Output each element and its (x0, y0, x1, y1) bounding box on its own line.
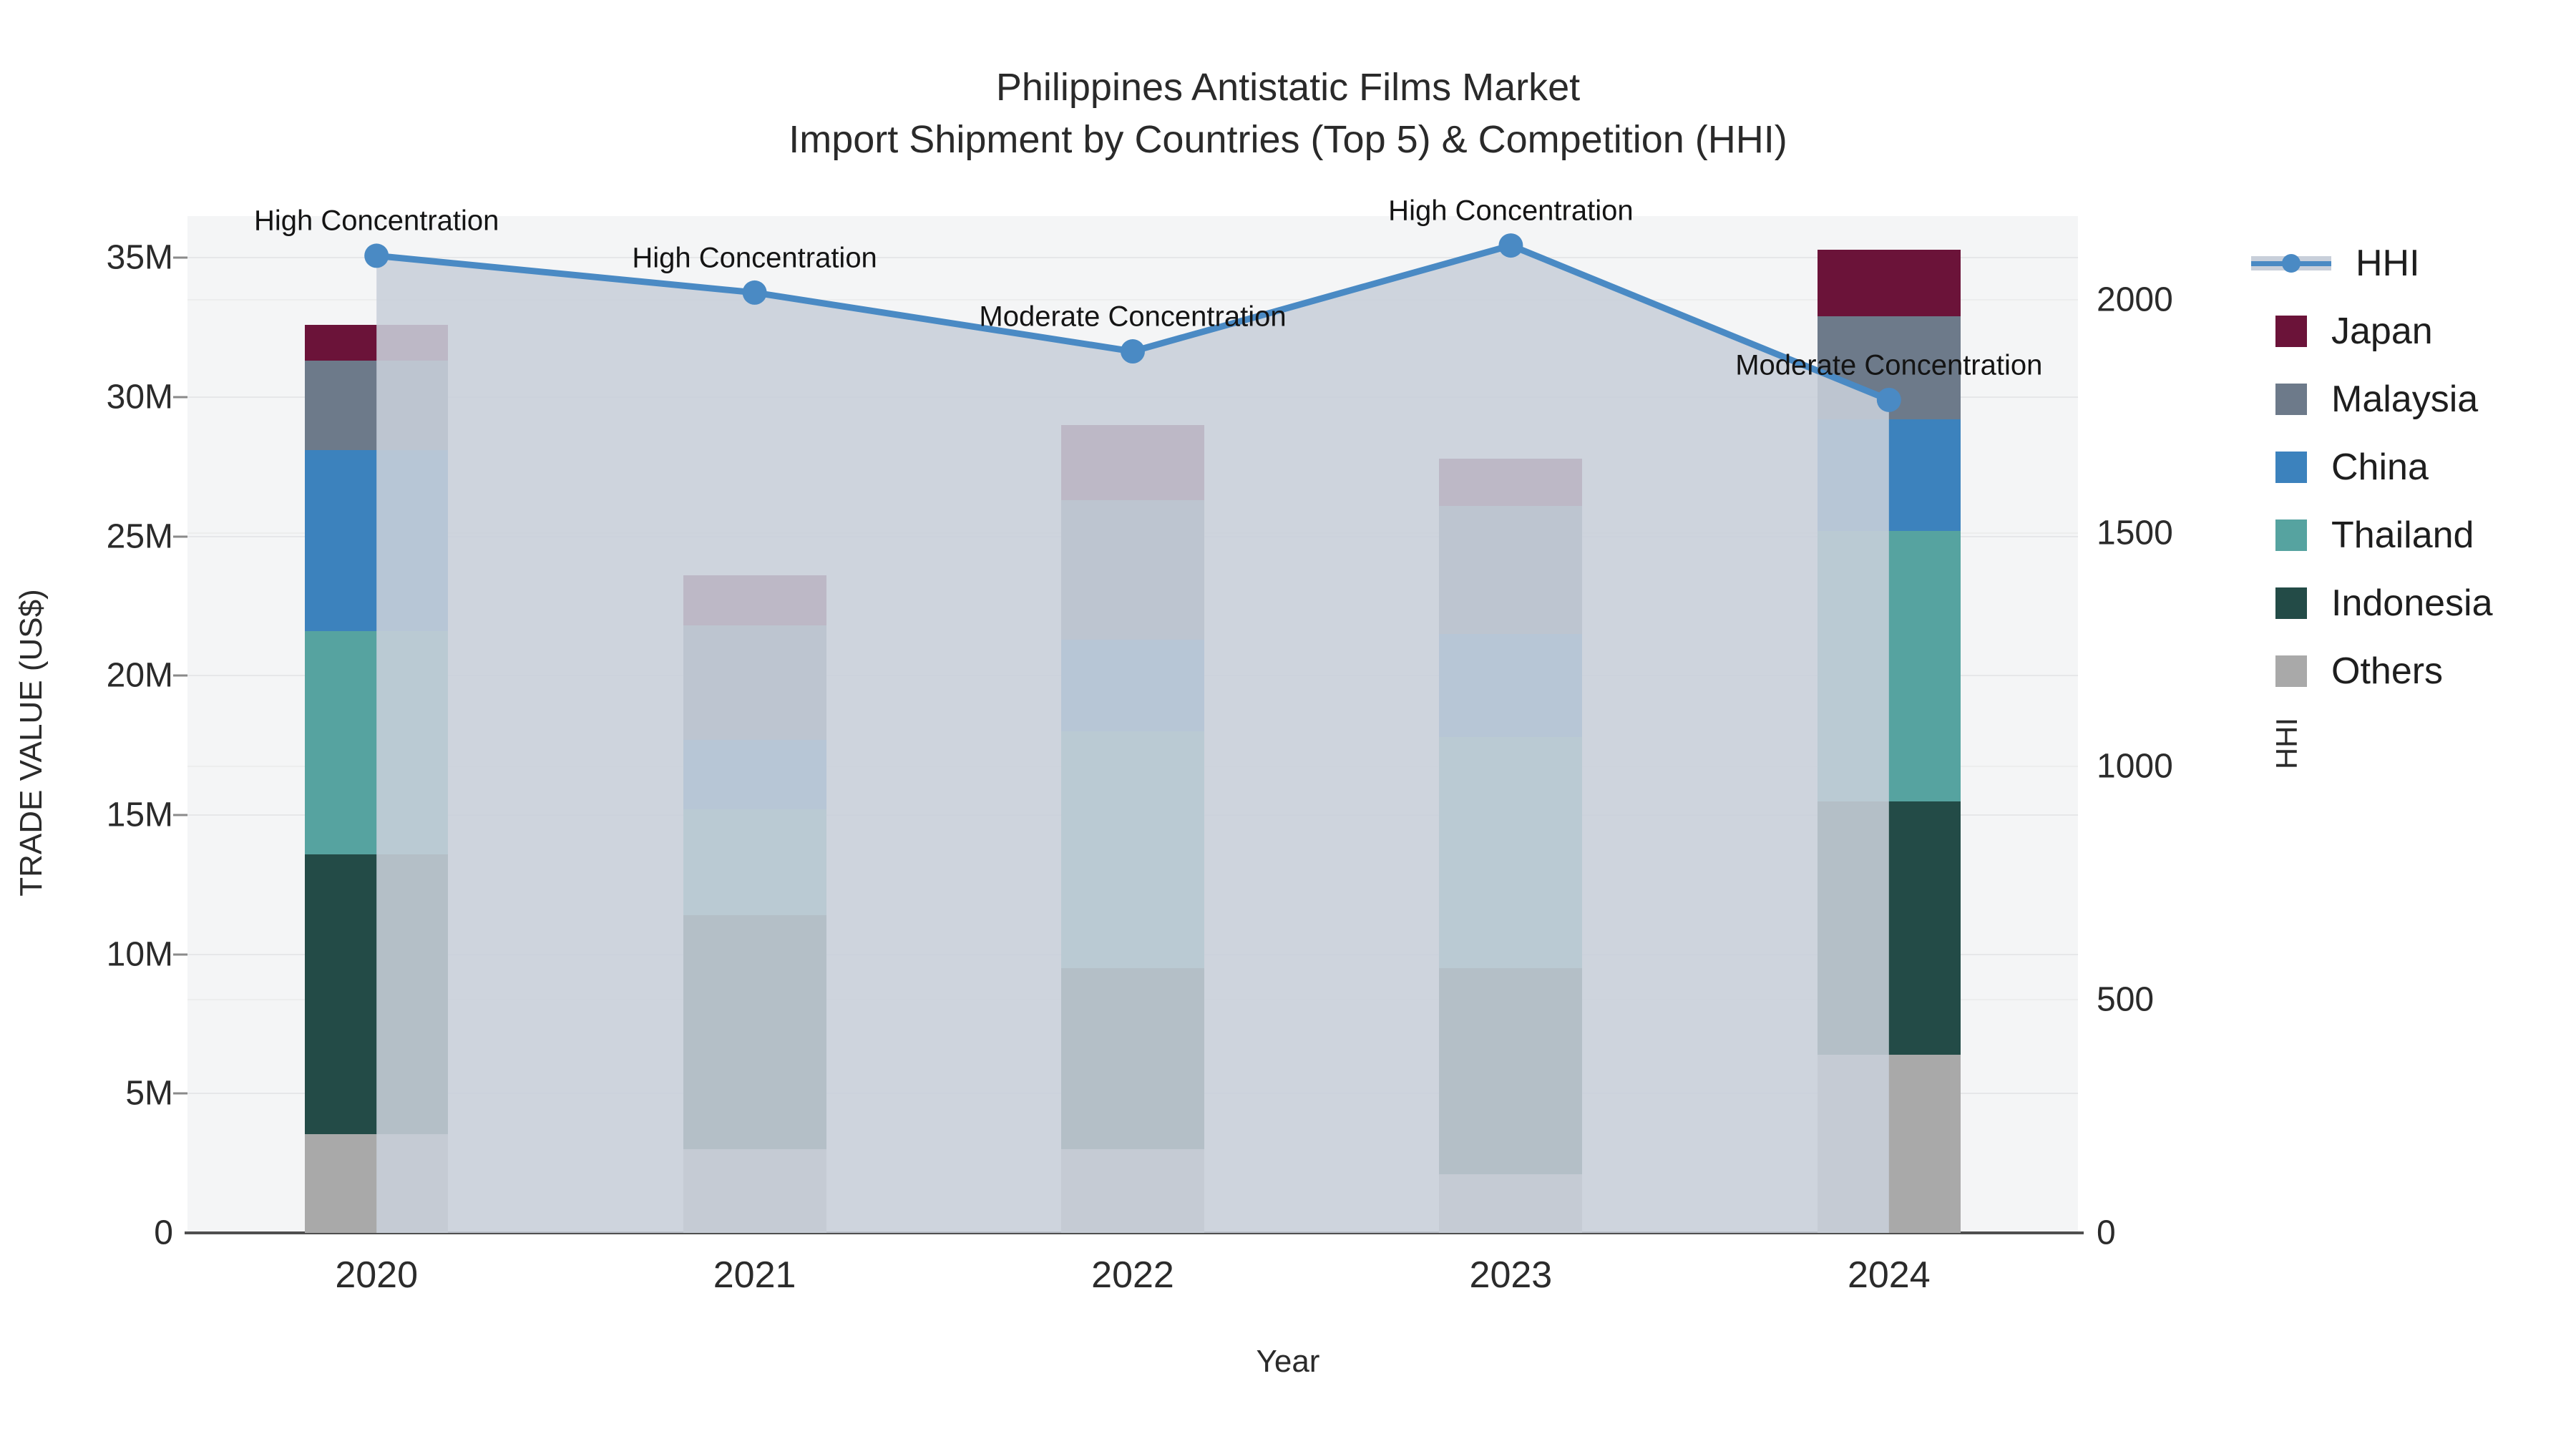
chart-title-line-2: Import Shipment by Countries (Top 5) & C… (0, 114, 2576, 166)
y-axis-left-tick-mark (173, 257, 187, 259)
x-axis-tick-label: 2023 (1360, 1254, 1661, 1297)
chart-title: Philippines Antistatic Films Market Impo… (0, 62, 2576, 166)
concentration-annotation: High Concentration (632, 242, 877, 274)
legend-swatch-japan (2275, 316, 2307, 347)
bar-segment-thailand[interactable] (1818, 531, 1961, 801)
bar-segment-malaysia[interactable] (1439, 506, 1582, 634)
bar-segment-china[interactable] (1818, 419, 1961, 531)
gridline (187, 257, 2078, 258)
bar-segment-indonesia[interactable] (1439, 968, 1582, 1174)
bar-segment-thailand[interactable] (1439, 737, 1582, 968)
y-axis-tick-zero (185, 1231, 203, 1234)
bar-segment-indonesia[interactable] (305, 854, 448, 1134)
bar-segment-indonesia[interactable] (1818, 801, 1961, 1055)
y-axis-left-tick-label: 0 (0, 1214, 173, 1253)
bar-segment-china[interactable] (305, 450, 448, 631)
bar-segment-japan[interactable] (1818, 250, 1961, 316)
hhi-line-marker-icon (2251, 248, 2331, 279)
x-axis-tick-label: 2022 (982, 1254, 1283, 1297)
y-axis-left-tick-label: 5M (0, 1074, 173, 1113)
bar-segment-others[interactable] (1818, 1055, 1961, 1233)
bar-segment-others[interactable] (1439, 1174, 1582, 1233)
x-axis-tick-label: 2024 (1739, 1254, 2039, 1297)
bar-segment-indonesia[interactable] (1061, 968, 1204, 1149)
legend-item-others[interactable]: Others (2275, 637, 2576, 705)
y-axis-left-tick-label: 30M (0, 378, 173, 417)
y-axis-left-tick-mark (173, 535, 187, 537)
legend-label: Japan (2331, 310, 2433, 353)
legend-label: Others (2331, 650, 2443, 693)
legend-item-china[interactable]: China (2275, 433, 2576, 501)
y-axis-left-tick-label: 35M (0, 238, 173, 278)
bar-segment-china[interactable] (1061, 640, 1204, 731)
bar-segment-malaysia[interactable] (683, 625, 826, 740)
legend-label: HHI (2356, 242, 2420, 285)
chart-legend: HHIJapanMalaysiaChinaThailandIndonesiaOt… (2275, 229, 2576, 705)
chart-title-line-1: Philippines Antistatic Films Market (0, 62, 2576, 114)
legend-swatch-china (2275, 452, 2307, 483)
bar-segment-indonesia[interactable] (683, 915, 826, 1149)
legend-item-malaysia[interactable]: Malaysia (2275, 365, 2576, 433)
concentration-annotation: High Concentration (1388, 195, 1633, 228)
y-axis-right-tick-label: 500 (2097, 980, 2311, 1020)
legend-item-japan[interactable]: Japan (2275, 297, 2576, 365)
legend-item-indonesia[interactable]: Indonesia (2275, 569, 2576, 637)
concentration-annotation: Moderate Concentration (1735, 349, 2042, 381)
bar-segment-thailand[interactable] (683, 809, 826, 915)
legend-label: China (2331, 446, 2429, 489)
legend-item-hhi[interactable]: HHI (2275, 229, 2576, 297)
bar-segment-malaysia[interactable] (305, 361, 448, 450)
hhi-dot-icon (2282, 254, 2301, 273)
bar-segment-thailand[interactable] (305, 631, 448, 854)
y-axis-left-tick-mark (173, 1093, 187, 1095)
y-axis-left-tick-mark (173, 814, 187, 816)
y-axis-right-tick-label: 0 (2097, 1214, 2311, 1253)
gridline (187, 396, 2078, 398)
bar-segment-others[interactable] (683, 1149, 826, 1233)
legend-swatch-thailand (2275, 519, 2307, 551)
x-axis-label: Year (0, 1344, 2576, 1380)
concentration-annotation: Moderate Concentration (979, 301, 1286, 333)
x-axis-tick-label: 2021 (605, 1254, 905, 1297)
y-axis-left-tick-mark (173, 396, 187, 399)
bar-segment-others[interactable] (1061, 1149, 1204, 1233)
bar-segment-others[interactable] (305, 1134, 448, 1233)
bar-segment-japan[interactable] (305, 325, 448, 361)
concentration-annotation: High Concentration (254, 205, 499, 238)
legend-swatch-others (2275, 655, 2307, 687)
bar-segment-thailand[interactable] (1061, 731, 1204, 968)
bar-segment-china[interactable] (683, 740, 826, 809)
legend-swatch-indonesia (2275, 587, 2307, 619)
chart-figure: Philippines Antistatic Films Market Impo… (0, 0, 2576, 1449)
legend-swatch-malaysia (2275, 384, 2307, 415)
x-axis-tick-label: 2020 (226, 1254, 527, 1297)
bar-segment-china[interactable] (1439, 634, 1582, 737)
bar-segment-malaysia[interactable] (1061, 500, 1204, 640)
legend-label: Malaysia (2331, 378, 2478, 421)
y-axis-left-tick-mark (173, 953, 187, 955)
legend-label: Indonesia (2331, 582, 2493, 625)
bar-segment-japan[interactable] (1061, 425, 1204, 500)
legend-label: Thailand (2331, 514, 2474, 557)
bar-segment-japan[interactable] (1439, 459, 1582, 506)
y-axis-left-label: TRADE VALUE (US$) (14, 542, 49, 943)
legend-item-thailand[interactable]: Thailand (2275, 501, 2576, 569)
y-axis-left-tick-mark (173, 675, 187, 677)
bar-segment-japan[interactable] (683, 575, 826, 625)
